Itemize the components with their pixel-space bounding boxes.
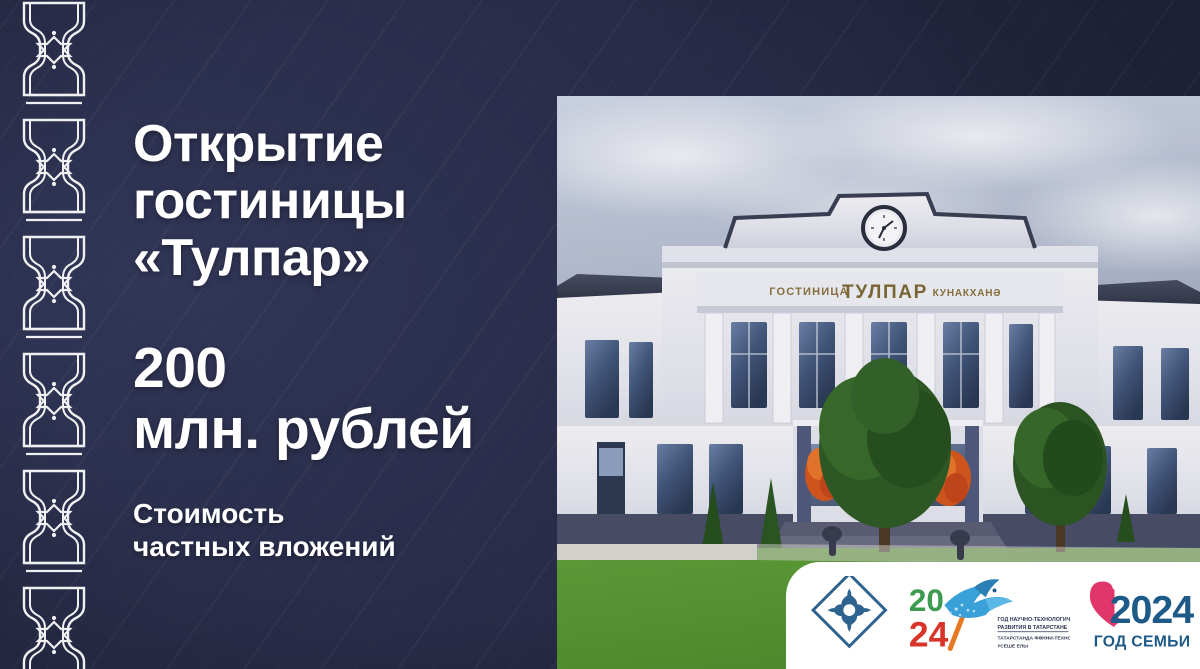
amount-value: 200	[133, 338, 533, 400]
headline-line-3: «Тулпар»	[133, 230, 533, 287]
caption-line-1: Стоимость	[133, 497, 533, 531]
sciyear-caption-line-1: ГОД НАУЧНО-ТЕХНОЛОГИЧЕСКОГО	[997, 616, 1070, 622]
science-year-logo: 20 24 ГОД НАУЧНО	[903, 577, 1070, 655]
sciyear-caption-line-2: РАЗВИТИЯ В ТАТАРСТАНЕ	[997, 624, 1067, 630]
family-year-logo: 2024 ГОД СЕМЬИ	[1084, 579, 1200, 653]
tatar-ornament-border	[18, 0, 90, 669]
tatarstan-emblem-logo	[806, 576, 897, 656]
slide-root: Открытие гостиницы «Тулпар» 200 млн. руб…	[0, 0, 1200, 669]
sciyear-caption-line-4: ҮСЕШЕ ЕЛЫ	[997, 643, 1028, 649]
amount-units: млн. рублей	[133, 399, 533, 461]
sciyear-digits-bottom: 24	[908, 614, 948, 654]
sciyear-digits-top: 20	[908, 582, 943, 618]
family-year-number: 2024	[1109, 587, 1194, 631]
amount-caption: Стоимость частных вложений	[133, 497, 533, 564]
family-year-subtitle: ГОД СЕМЬИ	[1094, 633, 1191, 650]
logo-bar: 20 24 ГОД НАУЧНО	[786, 562, 1200, 669]
headline-line-2: гостиницы	[133, 173, 533, 230]
headline-line-1: Открытие	[133, 116, 533, 173]
investment-amount: 200 млн. рублей	[133, 338, 533, 461]
text-column: Открытие гостиницы «Тулпар» 200 млн. руб…	[133, 116, 533, 564]
caption-line-2: частных вложений	[133, 530, 533, 564]
sciyear-caption-line-3: ТАТАРСТАНДА ФӘННИ-ТЕХНОЛОГИЯЛӘР	[997, 635, 1070, 641]
page-title: Открытие гостиницы «Тулпар»	[133, 116, 533, 288]
